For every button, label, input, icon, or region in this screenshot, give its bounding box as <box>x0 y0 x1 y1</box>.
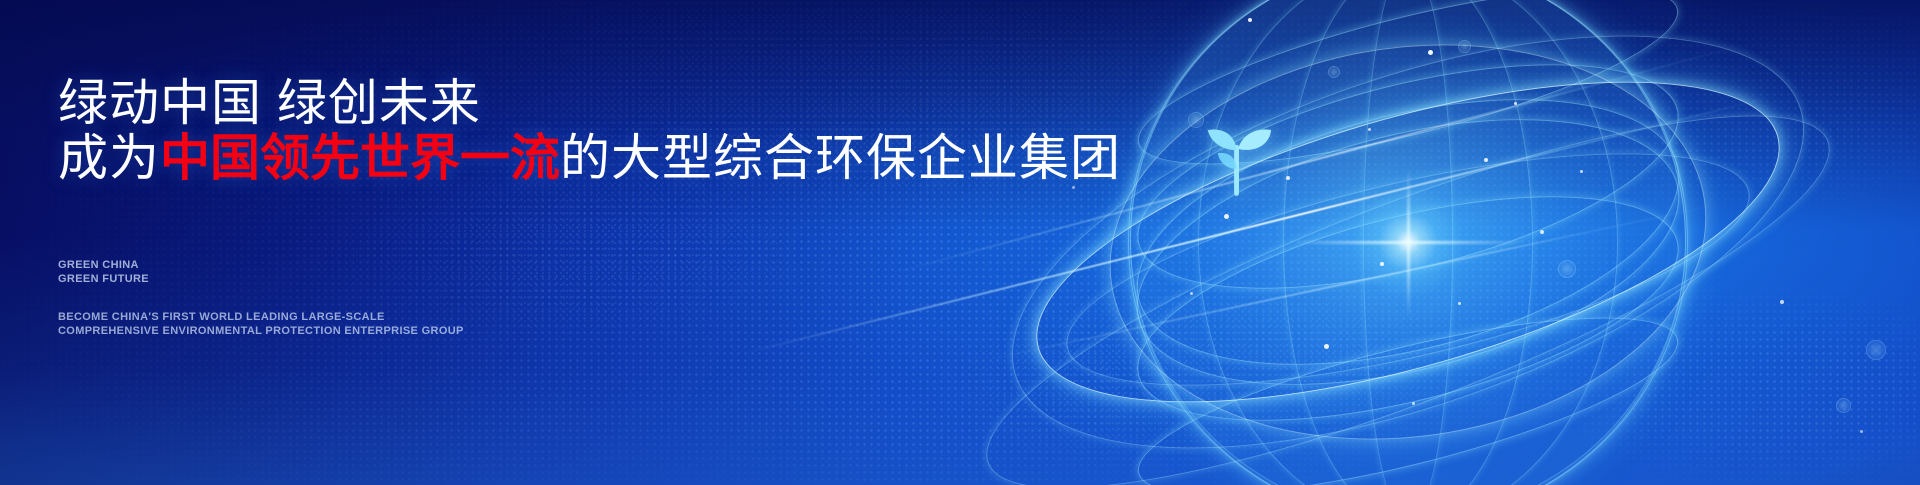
headline-line-2-prefix: 成为 <box>58 130 160 186</box>
slogan-english: GREEN CHINA GREEN FUTURE <box>58 258 149 286</box>
subtitle-english: BECOME CHINA'S FIRST WORLD LEADING LARGE… <box>58 310 464 338</box>
subtitle-english-line-2: COMPREHENSIVE ENVIRONMENTAL PROTECTION E… <box>58 324 464 338</box>
hero-banner: 绿动中国 绿创未来 成为中国领先世界一流的大型综合环保企业集团 GREEN CH… <box>0 0 1920 485</box>
subtitle-english-line-1: BECOME CHINA'S FIRST WORLD LEADING LARGE… <box>58 310 464 324</box>
headline-line-2-highlight: 中国领先世界一流 <box>160 130 560 186</box>
slogan-english-line-2: GREEN FUTURE <box>58 272 149 286</box>
background-vignette <box>0 0 1920 485</box>
headline-line-2-suffix: 的大型综合环保企业集团 <box>560 130 1121 186</box>
headline-line-1: 绿动中国 绿创未来 <box>58 78 481 128</box>
headline-line-2: 成为中国领先世界一流的大型综合环保企业集团 <box>58 133 1121 183</box>
slogan-english-line-1: GREEN CHINA <box>58 258 149 272</box>
